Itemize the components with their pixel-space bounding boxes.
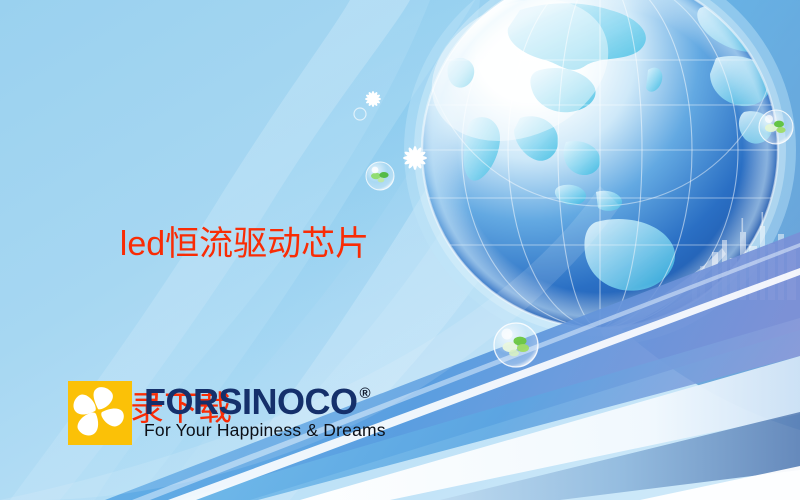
company-logo[interactable]: FORSINOCO ® For Your Happiness & Dreams	[68, 381, 386, 445]
logo-text-block: FORSINOCO ® For Your Happiness & Dreams	[144, 385, 386, 442]
city-skyline-silhouette	[712, 212, 796, 300]
headline-text: led恒流驱动芯片 目录下载	[82, 162, 369, 500]
headline-line-1: led恒流驱动芯片	[120, 225, 369, 263]
white-flower-large	[403, 146, 427, 170]
logo-wordmark-row: FORSINOCO ®	[144, 385, 386, 420]
bubble-pinwheel-large	[494, 323, 538, 367]
logo-wordmark: FORSINOCO	[144, 385, 358, 420]
white-flower-small	[365, 91, 381, 107]
promo-banner: led恒流驱动芯片 目录下载 FORSINOCO ® For Your Happ…	[0, 0, 800, 500]
registered-trademark-icon: ®	[360, 387, 371, 401]
bubble-pinwheel-small	[366, 162, 394, 190]
bubble-pinwheel-edge	[759, 110, 793, 144]
logo-tagline: For Your Happiness & Dreams	[144, 420, 386, 441]
forsinoco-pinwheel-mark	[68, 381, 132, 445]
